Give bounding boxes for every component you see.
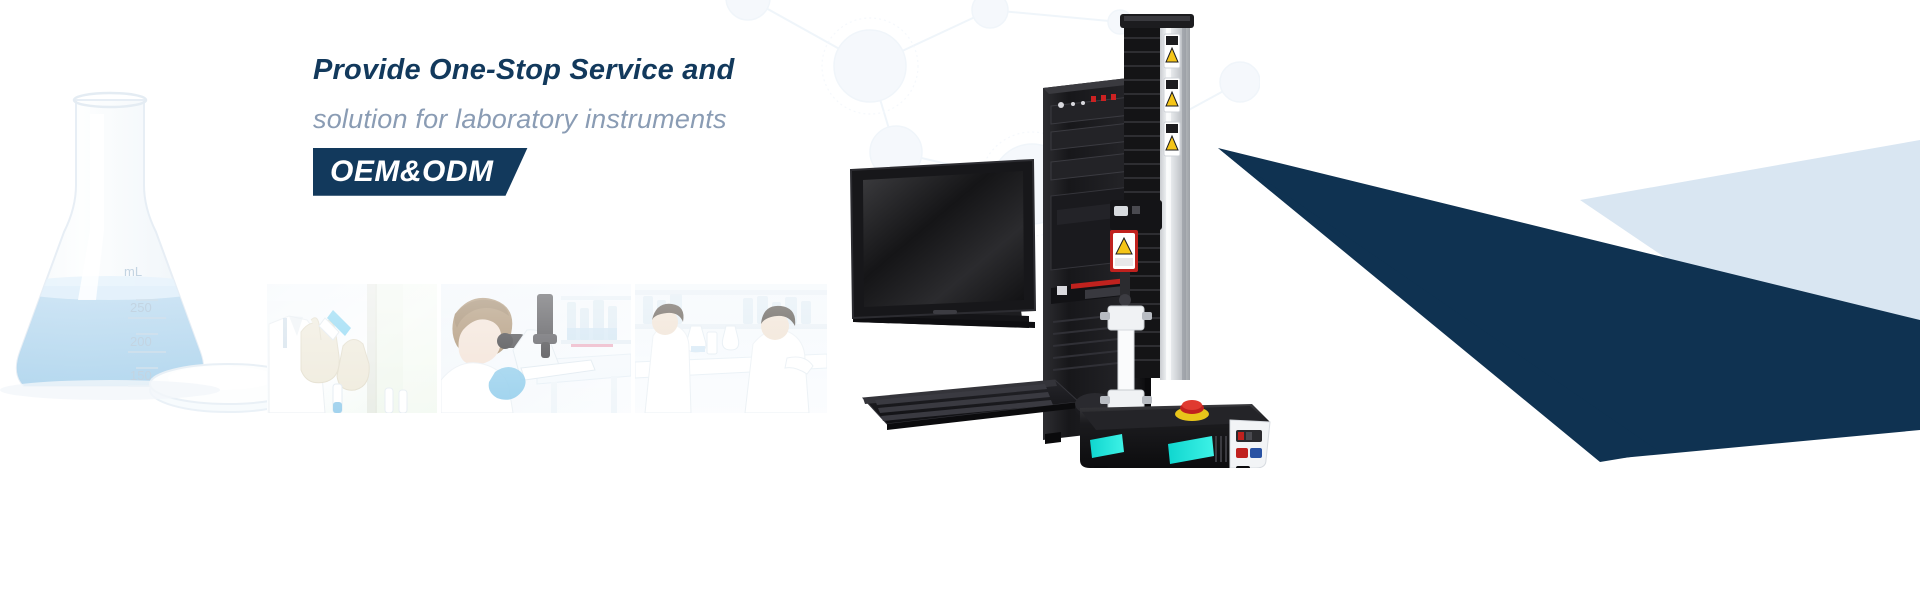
- tester-base: [1080, 400, 1270, 468]
- emergency-stop-button: [1175, 400, 1209, 421]
- tester-crosshead: [1110, 200, 1162, 272]
- computer-tower: [1043, 76, 1151, 444]
- photo-lab-bench[interactable]: [635, 284, 827, 413]
- tester-column-left: [1124, 26, 1160, 378]
- oem-odm-badge[interactable]: OEM&ODM: [313, 148, 528, 196]
- tester-warning-labels: [1164, 34, 1180, 156]
- computer-keyboard: [863, 380, 1119, 430]
- flask-graduation-200: 200: [130, 334, 152, 349]
- tester-lower-grip: [1100, 390, 1152, 450]
- photo-pipetting[interactable]: [267, 284, 437, 413]
- cyan-led-left: [1090, 434, 1124, 458]
- lab-photo-strip: [267, 284, 827, 413]
- headline-block: Provide One-Stop Service and solution fo…: [313, 55, 953, 196]
- light-blue-triangle: [1580, 140, 1920, 430]
- cyan-led-right: [1168, 436, 1214, 464]
- flask-illustration: mL 250 200 150: [0, 90, 300, 490]
- navy-arrow-shape: [1218, 148, 1920, 460]
- decorative-shapes: [1180, 0, 1920, 597]
- tensile-testing-machine: [1080, 8, 1320, 468]
- flask-unit-label: mL: [124, 264, 142, 279]
- oem-odm-badge-label: OEM&ODM: [330, 155, 494, 188]
- promo-banner: mL 250 200 150: [0, 0, 1920, 597]
- headline-line-1: Provide One-Stop Service and: [313, 55, 953, 85]
- flask-graduation-250: 250: [130, 300, 152, 315]
- oem-odm-badge-wrap: OEM&ODM: [313, 148, 528, 196]
- photo-microscope[interactable]: [441, 284, 631, 413]
- tester-column-right: [1120, 14, 1194, 380]
- tester-upper-grip: [1100, 272, 1152, 390]
- flask-graduation-150: 150: [130, 368, 152, 383]
- headline-line-2: solution for laboratory instruments: [313, 105, 953, 133]
